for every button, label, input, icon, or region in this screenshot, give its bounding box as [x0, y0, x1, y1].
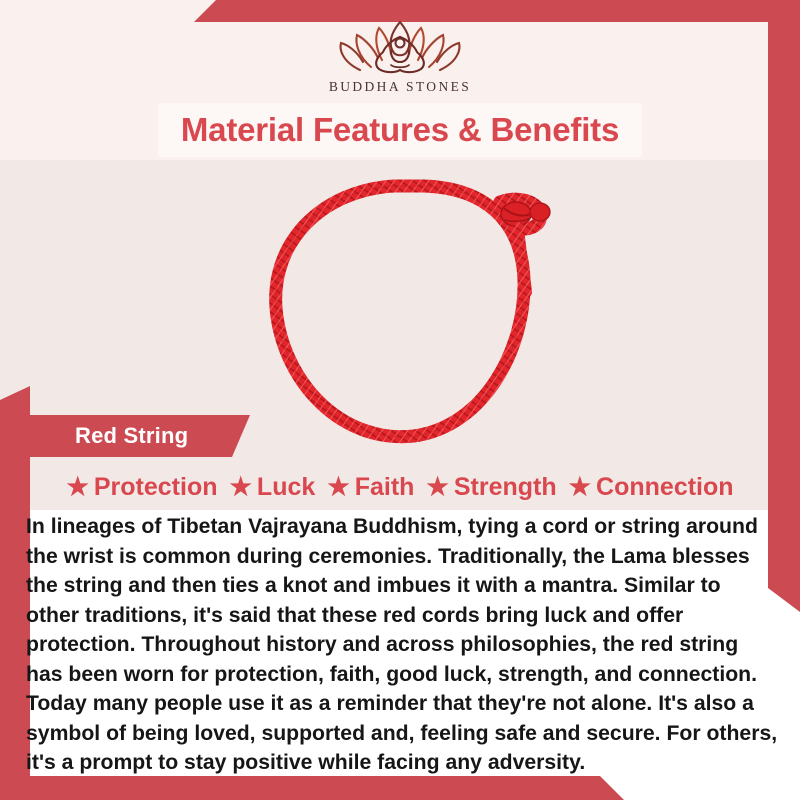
benefit-label: Strength: [454, 473, 557, 502]
infographic-page: BUDDHA STONES Material Features & Benefi…: [0, 0, 800, 800]
description-text: In lineages of Tibetan Vajrayana Buddhis…: [26, 512, 778, 778]
product-label-ribbon: Red String: [20, 415, 250, 457]
benefit-label: Connection: [596, 473, 734, 502]
benefit-label: Luck: [257, 473, 315, 502]
star-icon: ★: [569, 475, 591, 500]
benefit-item: ★ Protection: [66, 473, 217, 502]
benefit-item: ★ Strength: [426, 473, 556, 502]
brand-logo: BUDDHA STONES: [0, 14, 800, 95]
star-icon: ★: [327, 475, 349, 500]
star-icon: ★: [66, 475, 88, 500]
brand-name: BUDDHA STONES: [329, 79, 471, 95]
benefit-label: Protection: [94, 473, 218, 502]
benefit-item: ★ Luck: [230, 473, 316, 502]
description-block: In lineages of Tibetan Vajrayana Buddhis…: [26, 512, 778, 778]
star-icon: ★: [230, 475, 252, 500]
benefit-item: ★ Connection: [569, 473, 734, 502]
decorative-bottom-red-band: [0, 776, 640, 800]
star-icon: ★: [426, 475, 448, 500]
benefits-list: ★ Protection ★ Luck ★ Faith ★ Strength ★…: [0, 466, 800, 508]
page-title: Material Features & Benefits: [181, 111, 619, 149]
product-label-text: Red String: [75, 423, 188, 449]
product-image-red-string-bracelet: [254, 168, 584, 458]
page-title-banner: Material Features & Benefits: [158, 103, 642, 157]
lotus-meditation-icon: [334, 14, 466, 76]
benefit-item: ★ Faith: [327, 473, 414, 502]
benefit-label: Faith: [355, 473, 415, 502]
